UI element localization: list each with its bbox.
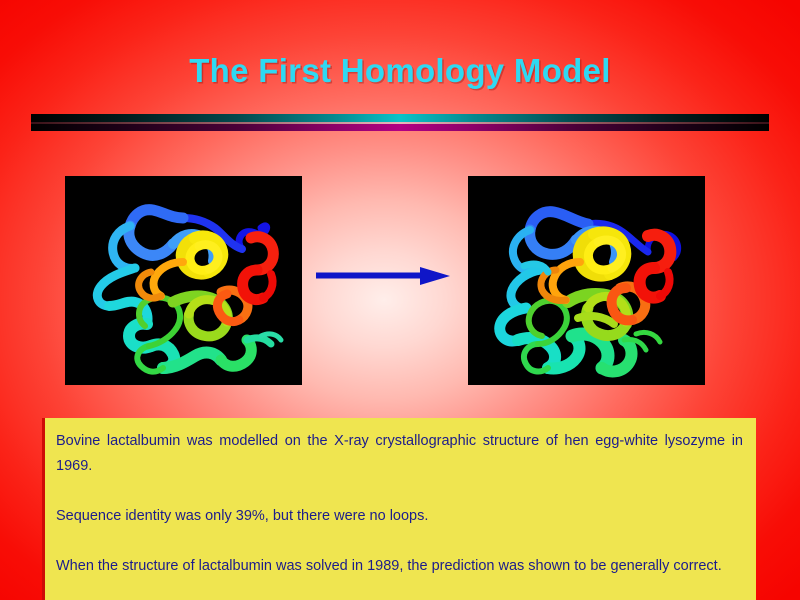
protein-structure-right bbox=[468, 176, 705, 385]
arrow-right-icon bbox=[316, 264, 452, 288]
textbox-paragraph-1: Bovine lactalbumin was modelled on the X… bbox=[56, 429, 743, 479]
divider-band-teal bbox=[31, 114, 769, 122]
decorative-divider-bar bbox=[31, 114, 769, 131]
protein-ribbon-left-graphic bbox=[65, 176, 302, 385]
textbox-paragraph-3: When the structure of lactalbumin was so… bbox=[56, 554, 743, 579]
transition-arrow bbox=[316, 264, 452, 288]
protein-structure-left bbox=[65, 176, 302, 385]
protein-ribbon-right-graphic bbox=[468, 176, 705, 385]
slide-canvas: The First Homology Model bbox=[0, 0, 800, 600]
textbox-paragraph-2: Sequence identity was only 39%, but ther… bbox=[56, 504, 743, 529]
divider-band-magenta bbox=[31, 124, 769, 131]
description-textbox: Bovine lactalbumin was modelled on the X… bbox=[42, 418, 756, 600]
page-title: The First Homology Model bbox=[0, 52, 800, 90]
